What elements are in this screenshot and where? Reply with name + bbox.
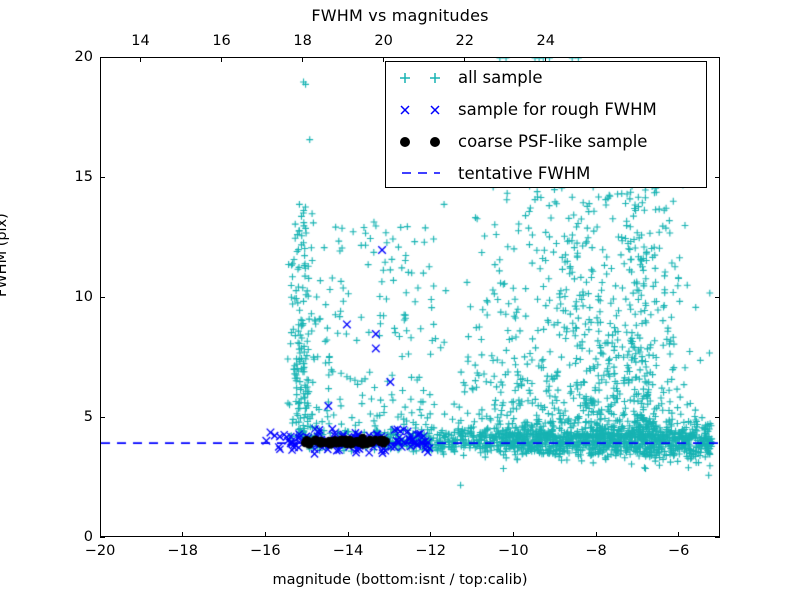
tick-mark <box>100 57 105 58</box>
x-axis-label: magnitude (bottom:isnt / top:calib) <box>0 572 800 588</box>
tick-mark <box>715 417 720 418</box>
x-tick-label: −12 <box>415 543 446 559</box>
x-tick-label: −10 <box>498 543 529 559</box>
tick-mark <box>715 537 720 538</box>
x-tick-label: −14 <box>333 543 364 559</box>
legend-label: all sample <box>458 68 543 87</box>
x-tick-label: −20 <box>85 543 116 559</box>
top-x-tick-label: 20 <box>374 33 392 49</box>
dashed-line-icon <box>386 157 458 189</box>
x-marker-icon <box>386 94 458 126</box>
top-x-tick-label: 18 <box>293 33 311 49</box>
legend-label: coarse PSF-like sample <box>458 132 647 151</box>
figure-canvas: FWHM vs magnitudes FWHM (pix) magnitude … <box>0 0 800 600</box>
tick-mark <box>100 532 101 537</box>
y-tick-label: 10 <box>48 289 93 305</box>
page-title: FWHM vs magnitudes <box>0 6 800 25</box>
y-tick-label: 5 <box>48 409 93 425</box>
tick-mark <box>100 297 105 298</box>
tick-mark <box>100 177 105 178</box>
tick-mark <box>513 532 514 537</box>
tick-mark <box>100 417 105 418</box>
y-tick-label: 15 <box>48 169 93 185</box>
tick-mark <box>348 532 349 537</box>
legend-item-coarse-psf: coarse PSF-like sample <box>386 126 706 158</box>
y-tick-label: 20 <box>48 49 93 65</box>
tick-mark <box>302 57 303 62</box>
x-tick-label: −6 <box>668 543 689 559</box>
y-axis-label: FWHM (pix) <box>0 213 10 297</box>
tick-mark <box>678 532 679 537</box>
tick-mark <box>715 57 720 58</box>
x-tick-label: −18 <box>167 543 198 559</box>
x-tick-label: −8 <box>585 543 606 559</box>
legend-item-all-sample: all sample <box>386 62 706 94</box>
tick-mark <box>715 177 720 178</box>
tick-mark <box>140 57 141 62</box>
legend-label: sample for rough FWHM <box>458 100 657 119</box>
legend-item-tentative-fwhm: tentative FWHM <box>386 157 706 189</box>
plus-icon <box>386 62 458 94</box>
legend: all sample sample for rough FWHM c <box>385 61 707 188</box>
legend-item-rough-fwhm: sample for rough FWHM <box>386 94 706 126</box>
tick-mark <box>715 297 720 298</box>
dot-marker-icon <box>386 126 458 158</box>
x-tick-label: −16 <box>250 543 281 559</box>
top-x-tick-label: 24 <box>537 33 555 49</box>
tick-mark <box>430 532 431 537</box>
legend-label: tentative FWHM <box>458 164 590 183</box>
tick-mark <box>221 57 222 62</box>
tick-mark <box>265 532 266 537</box>
top-x-tick-label: 22 <box>455 33 473 49</box>
tick-mark <box>100 537 105 538</box>
tick-mark <box>182 532 183 537</box>
top-x-tick-label: 14 <box>131 33 149 49</box>
top-x-tick-label: 16 <box>212 33 230 49</box>
tick-mark <box>596 532 597 537</box>
